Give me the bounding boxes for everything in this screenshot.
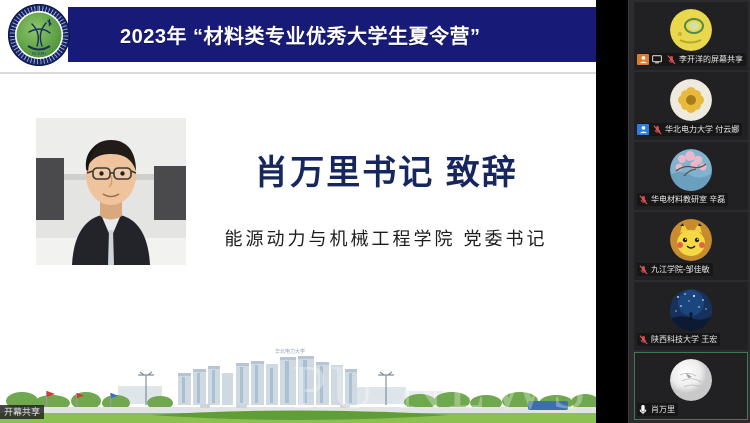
campus-panorama-image: 华北电力大学 [0,331,596,423]
svg-text:NCEPU: NCEPU [32,51,48,56]
muted-mic-icon [637,194,649,205]
muted-mic-icon [637,264,649,275]
cohost-badge [637,124,649,135]
shared-screen-stage[interactable]: 2023年 “材料类专业优秀大学生夏令营” [0,0,628,423]
participant-tile-0[interactable]: 李开洋的屏幕共享 [634,2,748,70]
white-sphere-avatar [670,359,712,401]
cherry-blossom-avatar [670,149,712,191]
yellow-emoji-avatar [670,9,712,51]
sunflower-avatar [670,79,712,121]
speaker-portrait [36,118,186,265]
participant-name: 李开洋的屏幕共享 [679,53,743,66]
participant-name: 九江学院-邹佳敏 [651,263,710,276]
slide-subtitle: 能源动力与机械工程学院 党委书记 [186,225,586,251]
participant-status-bar: 九江学院-邹佳敏 [637,263,713,276]
svg-text:华北电力大学: 华北电力大学 [275,348,305,355]
participant-name: 华北电力大学 付云娜 [665,123,739,136]
header-divider [0,72,596,74]
participant-tile-2[interactable]: 华电材料教研室 辛磊 [634,142,748,210]
participant-tile-5[interactable]: 肖万里 [634,352,748,420]
participant-status-bar: 华电材料教研室 辛磊 [637,193,728,206]
slide-header-title: 2023年 “材料类专业优秀大学生夏令营” [120,20,481,49]
participant-name: 肖万里 [651,403,675,416]
screen-share-badge [651,54,663,65]
muted-mic-icon [651,124,663,135]
starry-night-avatar [670,289,712,331]
muted-mic-icon [665,54,677,65]
campus-panorama: 华北电力大学 [0,331,596,423]
host-badge [637,54,649,65]
muted-mic-icon [637,334,649,345]
participant-status-bar: 肖万里 [637,403,678,416]
participant-tile-3[interactable]: 九江学院-邹佳敏 [634,212,748,280]
slide-title: 肖万里书记 致辞 [206,155,566,192]
ncepu-seal-logo: NCEPU [8,4,70,66]
share-strip-label: 开幕共享 [0,405,44,419]
participant-tile-1[interactable]: 华北电力大学 付云娜 [634,72,748,140]
seal-emblem-icon: NCEPU [8,4,70,66]
presentation-slide: 2023年 “材料类专业优秀大学生夏令营” [0,0,596,423]
participant-status-bar: 华北电力大学 付云娜 [637,123,742,136]
meeting-screen: 2023年 “材料类专业优秀大学生夏令营” [0,0,750,423]
pikachu-avatar [670,219,712,261]
participant-panel[interactable]: 李开洋的屏幕共享 [628,0,750,423]
active-mic-icon [637,404,649,415]
participant-status-bar: 陕西科技大学 王宏 [637,333,720,346]
participant-status-bar: 李开洋的屏幕共享 [637,53,746,66]
speaker-portrait-image [36,118,186,265]
participant-name: 陕西科技大学 王宏 [651,333,717,346]
slide-header-bar: 2023年 “材料类专业优秀大学生夏令营” [68,7,596,62]
participant-name: 华电材料教研室 辛磊 [651,193,725,206]
participant-tile-4[interactable]: 陕西科技大学 王宏 [634,282,748,350]
